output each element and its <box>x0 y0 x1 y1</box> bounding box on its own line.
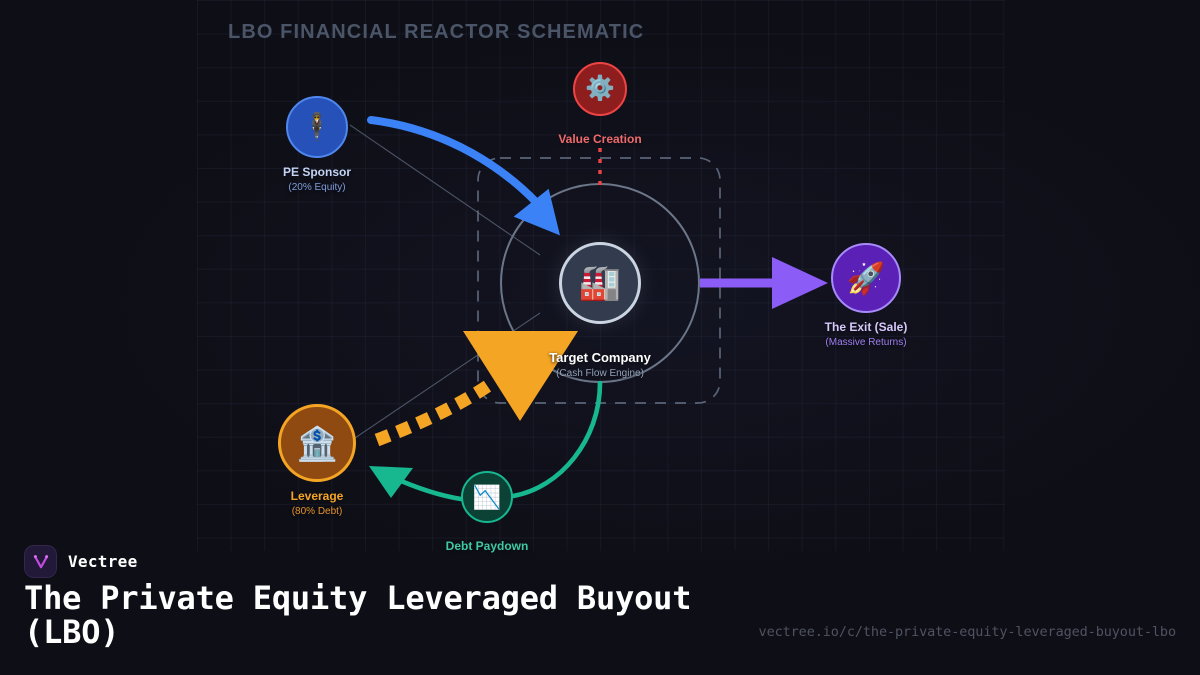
vectree-v-logo-icon <box>24 545 57 578</box>
footer: Vectree The Private Equity Leveraged Buy… <box>0 535 1200 675</box>
node-value-creation[interactable]: ⚙️ Value Creation <box>510 62 690 146</box>
business-person-emoji: 🕴️ <box>286 96 348 158</box>
schematic-canvas: LBO FINANCIAL REACTOR SCHEMATIC 🕴️ PE Sp… <box>0 0 1200 675</box>
rocket-emoji: 🚀 <box>831 243 901 313</box>
node-the-exit-label: The Exit (Sale) <box>825 320 908 334</box>
brand-name: Vectree <box>68 552 138 571</box>
node-leverage[interactable]: 🏦 Leverage (80% Debt) <box>227 404 407 517</box>
node-leverage-sublabel: (80% Debt) <box>292 506 343 517</box>
node-target-company[interactable]: 🏭 Target Company (Cash Flow Engine) <box>510 242 690 379</box>
node-pe-sponsor-sublabel: (20% Equity) <box>288 182 345 193</box>
deck-url: vectree.io/c/the-private-equity-leverage… <box>759 624 1176 640</box>
node-target-company-sublabel: (Cash Flow Engine) <box>556 368 644 379</box>
node-leverage-label: Leverage <box>291 489 344 503</box>
node-the-exit[interactable]: 🚀 The Exit (Sale) (Massive Returns) <box>776 243 956 348</box>
factory-emoji: 🏭 <box>559 242 641 324</box>
gear-emoji: ⚙️ <box>573 62 627 116</box>
node-target-company-label: Target Company <box>549 350 651 365</box>
chart-decreasing-emoji: 📉 <box>461 471 513 523</box>
deck-title: The Private Equity Leveraged Buyout (LBO… <box>24 581 714 649</box>
brand-row: Vectree <box>24 545 138 578</box>
bank-emoji: 🏦 <box>278 404 356 482</box>
node-pe-sponsor-label: PE Sponsor <box>283 165 351 179</box>
node-the-exit-sublabel: (Massive Returns) <box>825 337 906 348</box>
node-value-creation-label: Value Creation <box>558 132 641 146</box>
node-pe-sponsor[interactable]: 🕴️ PE Sponsor (20% Equity) <box>227 96 407 193</box>
